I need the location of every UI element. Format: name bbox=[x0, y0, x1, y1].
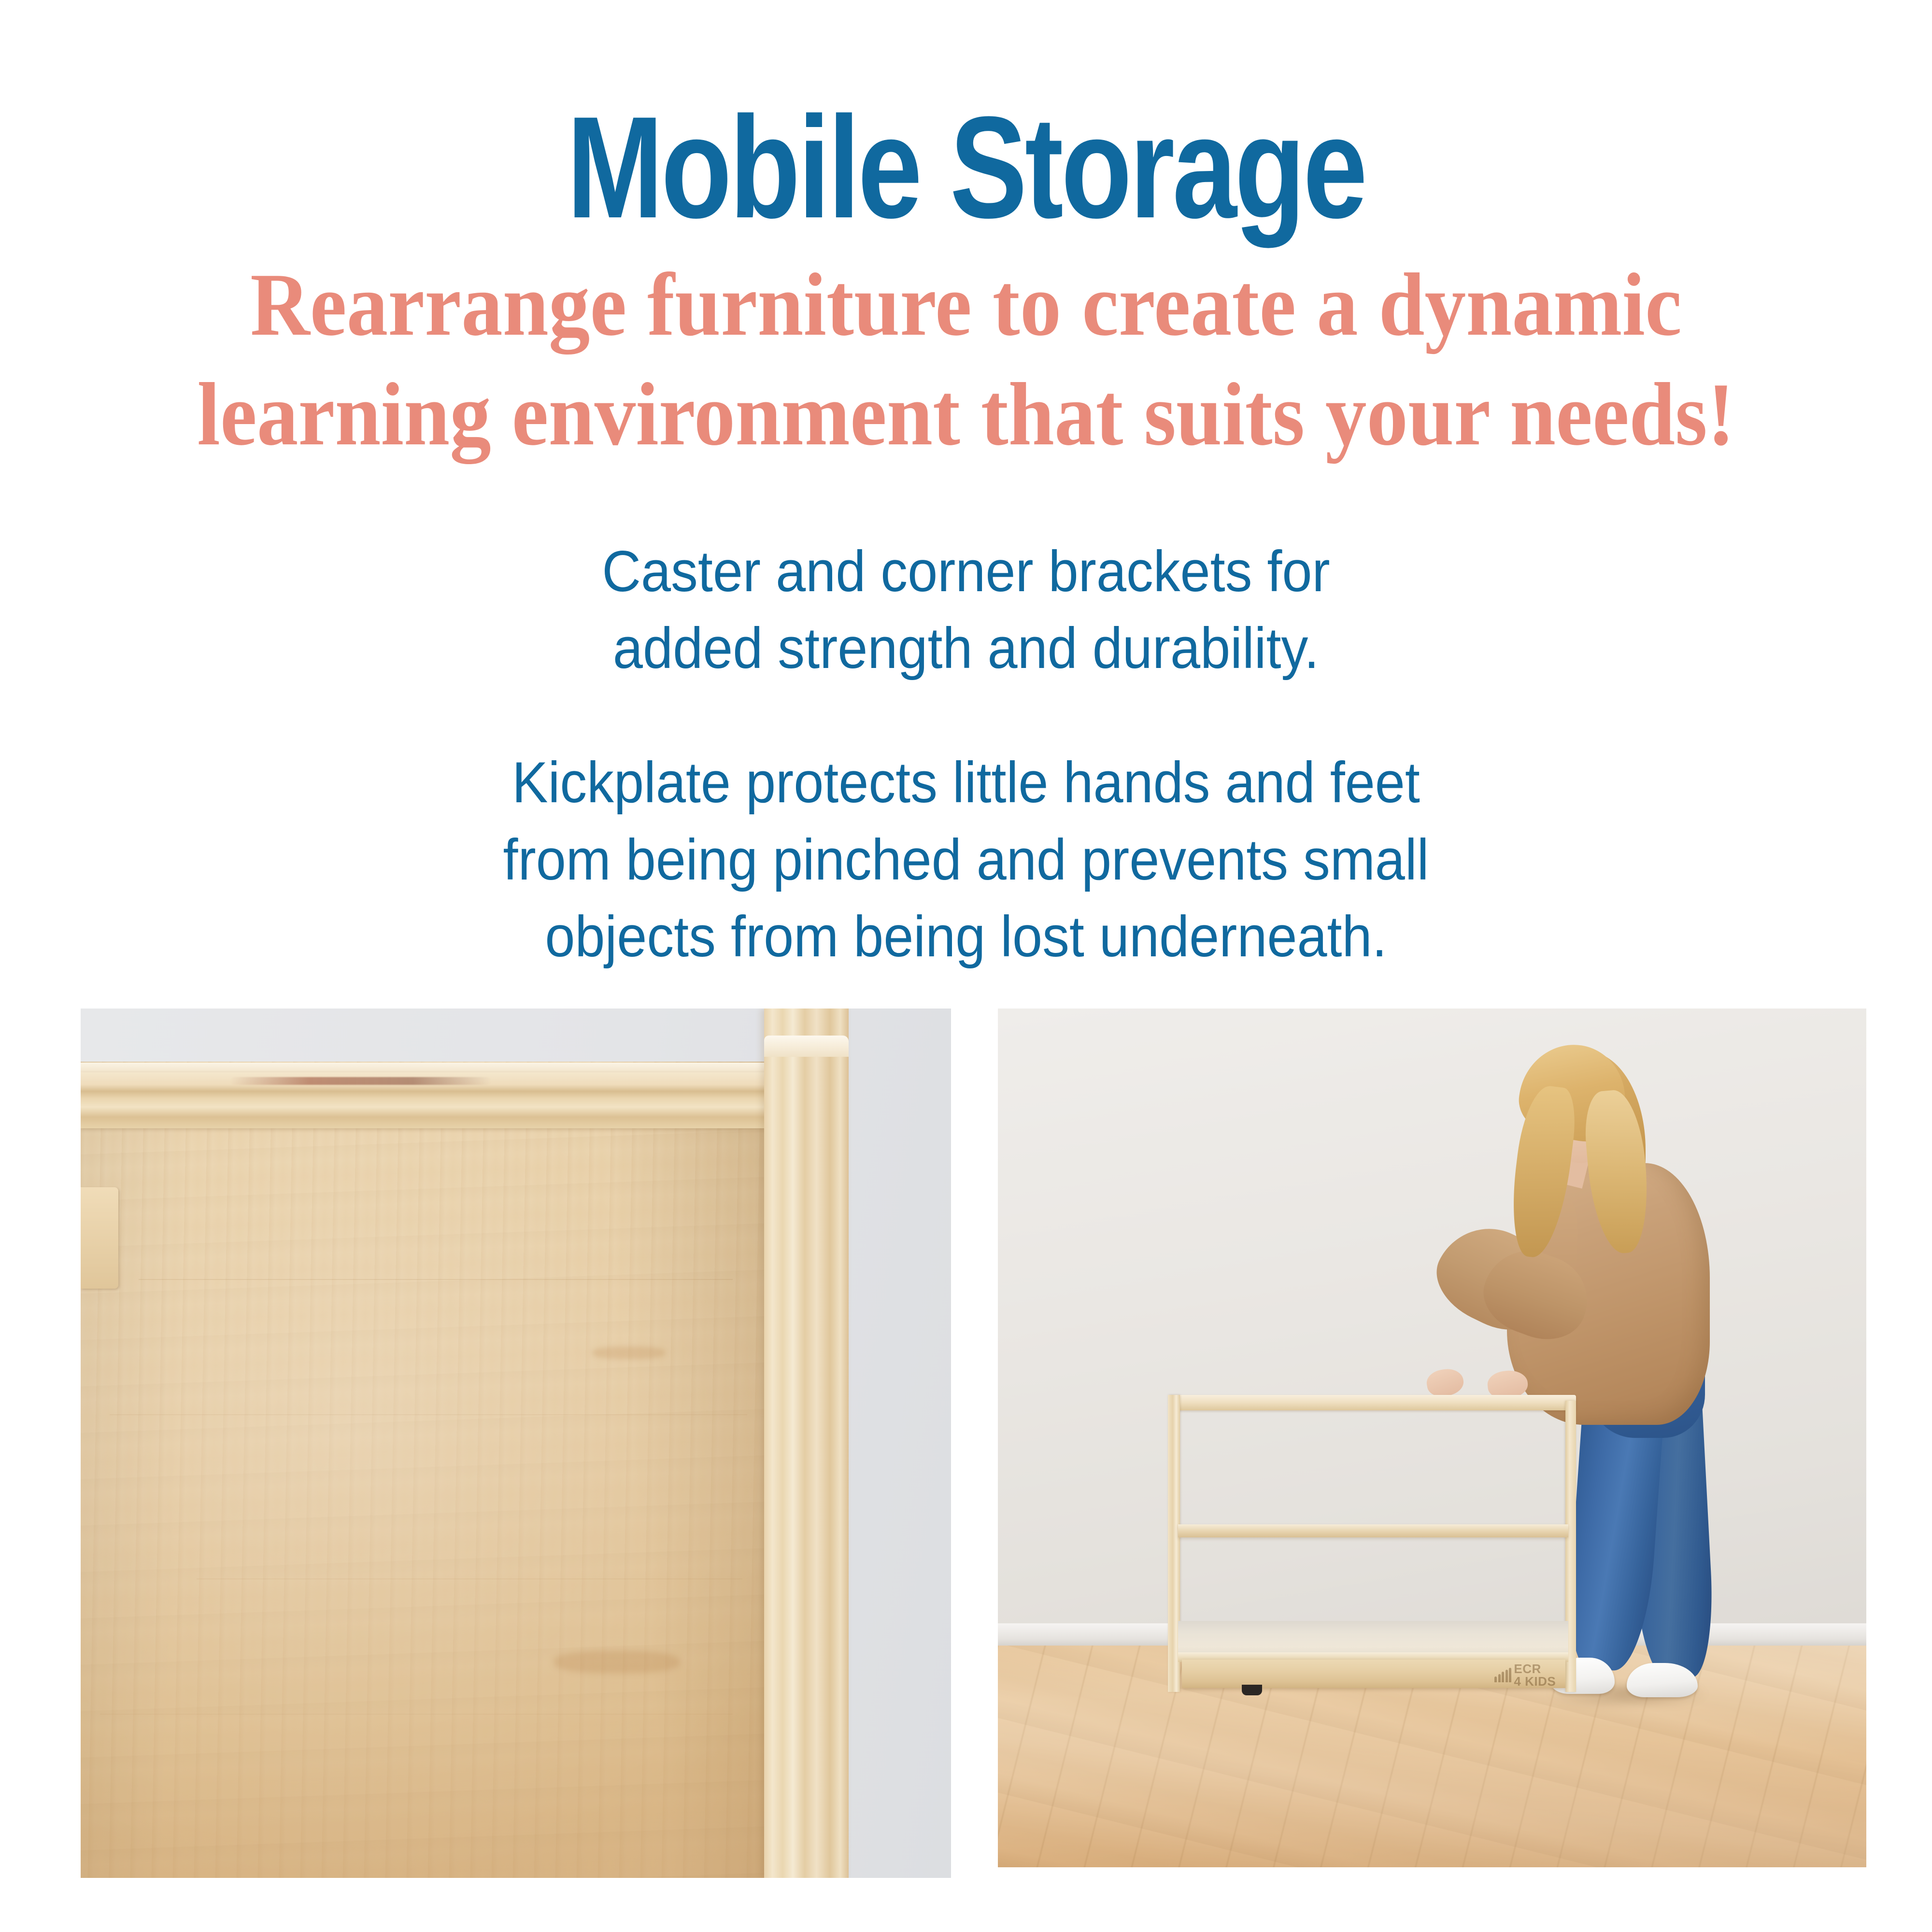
ecr4kids-logo: ECR 4 KIDS bbox=[1494, 1662, 1556, 1688]
photo-caster-detail bbox=[81, 1009, 951, 1878]
logo-line-2: 4 KIDS bbox=[1514, 1675, 1556, 1688]
wood-knot-stain bbox=[554, 1651, 680, 1673]
top-rail-stain bbox=[230, 1077, 491, 1085]
poster-canvas: Mobile Storage Rearrange furniture to cr… bbox=[0, 0, 1932, 1932]
page-title: Mobile Storage bbox=[193, 0, 1739, 240]
feature-paragraph-kickplate: Kickplate protects little hands and feet… bbox=[68, 687, 1864, 976]
wood-grain-line bbox=[197, 1578, 742, 1579]
unit-top-rail bbox=[1170, 1395, 1577, 1410]
unit-middle-shelf bbox=[1178, 1524, 1568, 1537]
feature-paragraph-caster: Caster and corner brackets for added str… bbox=[68, 469, 1864, 687]
feature-1-line-2: added strength and durability. bbox=[68, 610, 1864, 687]
logo-wordmark: ECR 4 KIDS bbox=[1514, 1662, 1556, 1688]
cabinet-side-board-cap bbox=[764, 1036, 849, 1057]
mobile-storage-unit: ECR 4 KIDS bbox=[1168, 1395, 1576, 1692]
header-block: Mobile Storage Rearrange furniture to cr… bbox=[0, 0, 1932, 976]
feature-2-line-1: Kickplate protects little hands and feet bbox=[68, 744, 1864, 822]
logo-figures-icon bbox=[1494, 1668, 1511, 1682]
wood-grain-line bbox=[100, 1714, 733, 1715]
wood-grain-line bbox=[110, 1414, 747, 1415]
wood-knot-stain bbox=[593, 1347, 665, 1359]
feature-1-line-1: Caster and corner brackets for bbox=[68, 533, 1864, 611]
plywood-panel-shading bbox=[81, 1062, 764, 1878]
subtitle: Rearrange furniture to create a dynamic … bbox=[77, 240, 1855, 469]
cabinet-side-board bbox=[764, 1009, 849, 1878]
feature-2-line-3: objects from being lost underneath. bbox=[68, 898, 1864, 976]
wood-tab-block bbox=[81, 1187, 118, 1289]
subtitle-line-1: Rearrange furniture to create a dynamic bbox=[77, 250, 1855, 360]
feature-2-line-2: from being pinched and prevents small bbox=[68, 822, 1864, 899]
unit-caster-wheel bbox=[1242, 1685, 1262, 1695]
subtitle-line-2: learning environment that suits your nee… bbox=[77, 360, 1855, 469]
photo-woman-with-storage-unit: ECR 4 KIDS bbox=[998, 1009, 1866, 1867]
logo-line-1: ECR bbox=[1514, 1662, 1556, 1676]
wood-grain-line bbox=[139, 1279, 733, 1280]
